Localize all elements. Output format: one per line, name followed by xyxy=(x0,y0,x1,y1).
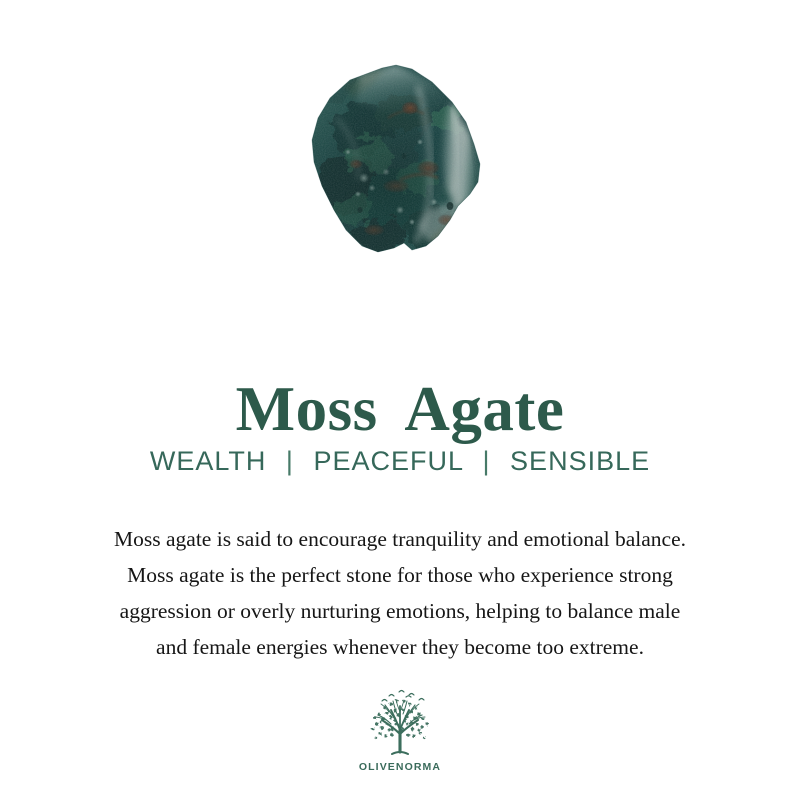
description-line: Moss agate is said to encourage tranquil… xyxy=(0,521,800,557)
page-title: Moss Agate xyxy=(0,372,800,446)
description-line: and female energies whenever they become… xyxy=(0,629,800,665)
description-text: Moss agate is said to encourage tranquil… xyxy=(0,521,800,665)
attribute-wealth: WEALTH xyxy=(150,446,267,476)
attribute-separator: | xyxy=(472,444,502,478)
olive-tree-logo-icon xyxy=(361,686,439,758)
description-line: aggression or overly nurturing emotions,… xyxy=(0,593,800,629)
description-line: Moss agate is the perfect stone for thos… xyxy=(0,557,800,593)
brand-logo: OLIVENORMA xyxy=(0,686,800,773)
moss-agate-stone-icon xyxy=(300,60,500,275)
stone-image-container xyxy=(0,60,800,275)
attribute-peaceful: PEACEFUL xyxy=(313,446,463,476)
product-info-card: Moss Agate WEALTH | PEACEFUL | SENSIBLE … xyxy=(0,0,800,800)
attribute-separator: | xyxy=(275,444,305,478)
attribute-sensible: SENSIBLE xyxy=(510,446,650,476)
brand-wordmark: OLIVENORMA xyxy=(359,761,441,773)
attributes-line: WEALTH | PEACEFUL | SENSIBLE xyxy=(0,444,800,478)
